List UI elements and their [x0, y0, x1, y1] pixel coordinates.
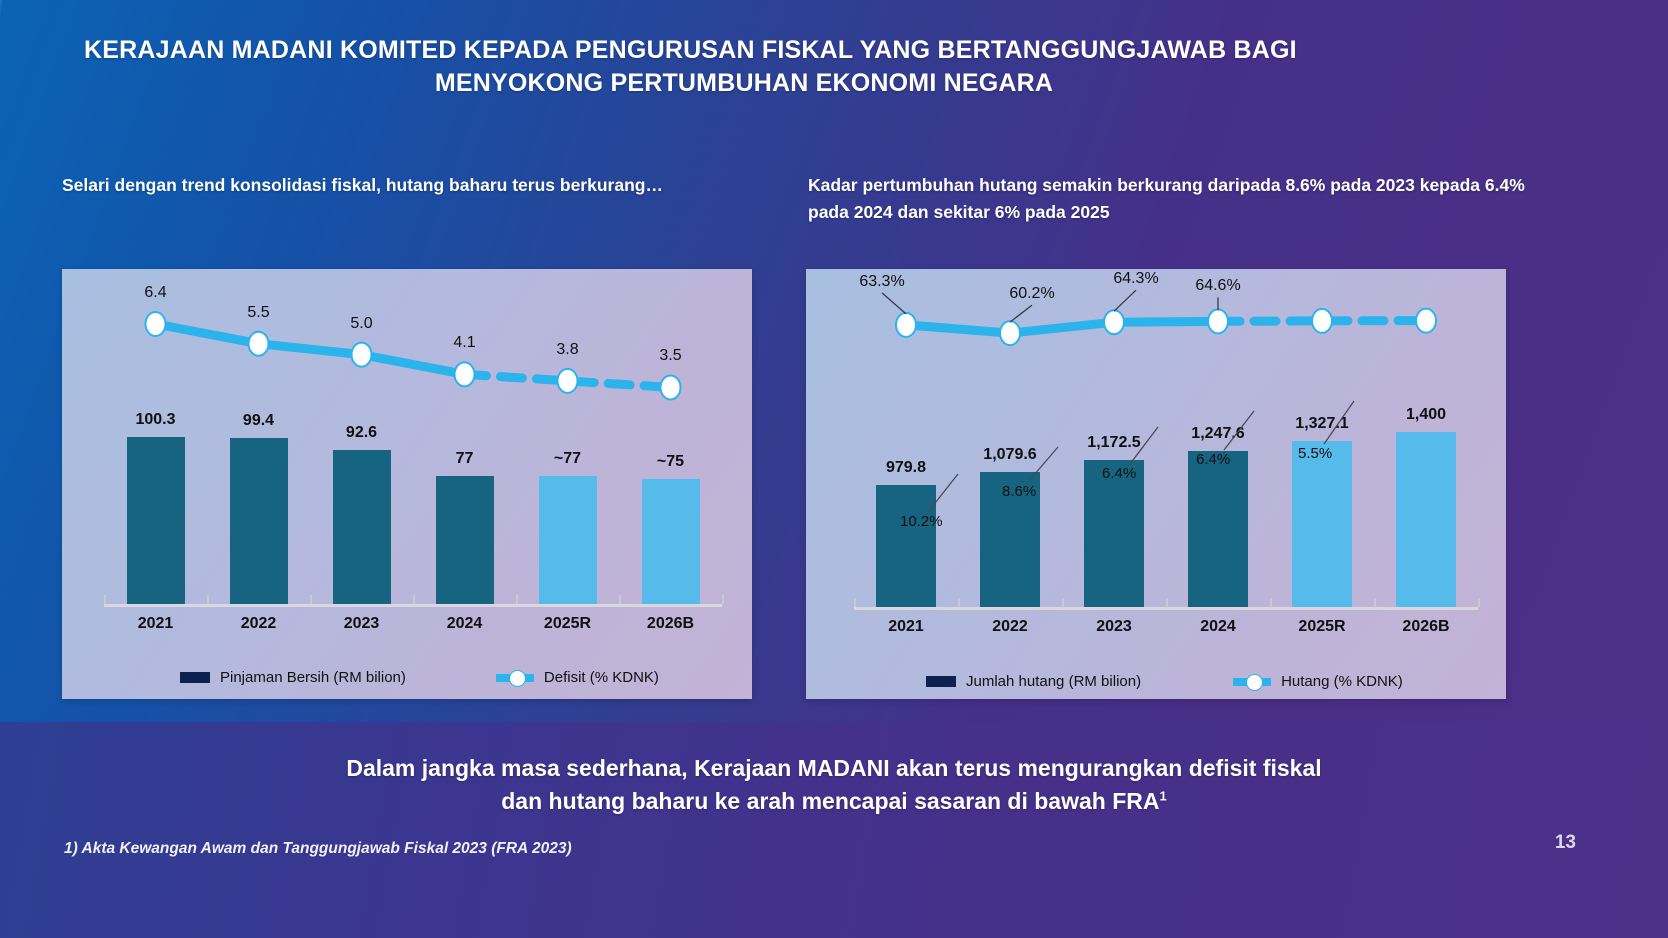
chart-panel-left: 100.3202199.4202292.62023772024~772025R~… [62, 269, 752, 699]
legend-label-line: Defisit (% KDNK) [544, 669, 659, 686]
legend-line-swatch-icon [496, 674, 534, 682]
line-value-label: 63.3% [822, 273, 942, 291]
data-point-marker[interactable] [896, 313, 916, 337]
data-point-marker[interactable] [1312, 309, 1332, 333]
data-point-marker[interactable] [558, 369, 578, 393]
page-title: KERAJAAN MADANI KOMITED KEPADA PENGURUSA… [84, 34, 1564, 100]
data-point-marker[interactable] [661, 375, 681, 399]
growth-rate-annotation: 6.4% [1102, 465, 1136, 482]
legend-bar-swatch-icon [180, 672, 210, 683]
data-point-marker[interactable] [1416, 309, 1436, 333]
chart-legend: Jumlah hutang (RM bilion)Hutang (% KDNK) [926, 673, 1403, 690]
page-number: 13 [1555, 832, 1576, 854]
growth-connector-line [1324, 401, 1354, 444]
page-title-line-1: KERAJAAN MADANI KOMITED KEPADA PENGURUSA… [84, 36, 1297, 64]
data-point-marker[interactable] [455, 362, 475, 386]
growth-connector-line [1028, 447, 1058, 482]
growth-connector-line [928, 474, 958, 512]
data-point-marker[interactable] [352, 343, 372, 367]
line-value-label: 64.6% [1158, 277, 1278, 295]
growth-connector-line [1130, 427, 1158, 464]
subheading-right: Kadar pertumbuhan hutang semakin berkura… [808, 172, 1528, 226]
subheading-left: Selari dengan trend konsolidasi fiskal, … [62, 172, 702, 199]
chart-legend: Pinjaman Bersih (RM bilion)Defisit (% KD… [180, 669, 659, 686]
growth-rate-annotation: 10.2% [900, 513, 943, 530]
legend-label-bar: Jumlah hutang (RM bilion) [966, 673, 1141, 690]
line-value-label: 4.1 [405, 334, 525, 352]
chart-left-plot-area: 100.3202199.4202292.62023772024~772025R~… [62, 269, 752, 699]
footnote-text: 1) Akta Kewangan Awam dan Tanggungjawab … [64, 840, 572, 858]
legend-label-bar: Pinjaman Bersih (RM bilion) [220, 669, 406, 686]
line-value-label: 60.2% [972, 285, 1092, 303]
line-value-label: 5.5 [199, 304, 319, 322]
line-value-label: 3.8 [508, 341, 628, 359]
legend-line-swatch-icon [1233, 678, 1271, 686]
line-series-right [806, 269, 1506, 699]
data-point-marker[interactable] [146, 312, 166, 336]
leader-line [1114, 290, 1136, 311]
leader-line [1010, 305, 1032, 322]
growth-rate-annotation: 8.6% [1002, 483, 1036, 500]
chart-panel-right: 979.820211,079.620221,172.520231,247.620… [806, 269, 1506, 699]
data-point-marker[interactable] [249, 332, 269, 356]
leader-line [882, 293, 906, 314]
closing-statement-line-2: dan hutang baharu ke arah mencapai sasar… [501, 788, 1159, 814]
closing-statement-line-1: Dalam jangka masa sederhana, Kerajaan MA… [346, 755, 1321, 781]
growth-rate-annotation: 6.4% [1196, 451, 1230, 468]
line-value-label: 6.4 [96, 284, 216, 302]
data-point-marker[interactable] [1104, 310, 1124, 334]
legend-bar-swatch-icon [926, 676, 956, 687]
data-point-marker[interactable] [1208, 309, 1228, 333]
footnote-marker: 1 [1160, 789, 1167, 804]
growth-rate-annotation: 5.5% [1298, 445, 1332, 462]
growth-connector-line [1224, 411, 1254, 450]
page-title-line-2: MENYOKONG PERTUMBUHAN EKONOMI NEGARA [84, 67, 1404, 100]
closing-statement: Dalam jangka masa sederhana, Kerajaan MA… [0, 752, 1668, 819]
legend-label-line: Hutang (% KDNK) [1281, 673, 1403, 690]
data-point-marker[interactable] [1000, 321, 1020, 345]
line-value-label: 5.0 [302, 315, 422, 333]
chart-right-plot-area: 979.820211,079.620221,172.520231,247.620… [806, 269, 1506, 699]
line-value-label: 3.5 [611, 347, 731, 365]
